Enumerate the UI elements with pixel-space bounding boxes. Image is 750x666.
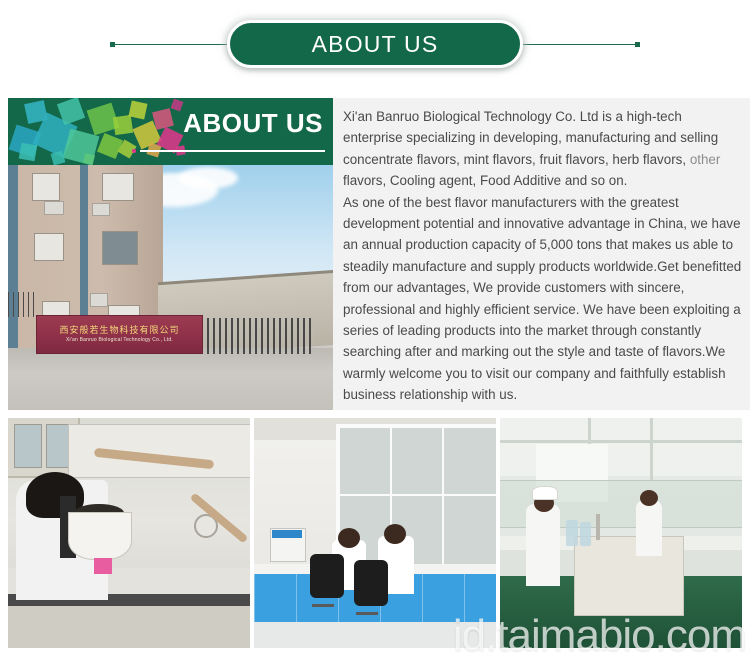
gallery-photo-3 xyxy=(500,418,742,648)
hair-cap xyxy=(532,486,558,500)
gallery-photo-1 xyxy=(8,418,250,648)
sink-island xyxy=(574,536,684,616)
cabinet-glass xyxy=(14,424,42,468)
ceiling-beam xyxy=(650,418,653,480)
about-text-panel: Xi'an Banruo Biological Technology Co. L… xyxy=(333,98,750,410)
header-rule-dot-right xyxy=(635,42,640,47)
worker-head xyxy=(640,490,658,506)
sign-chinese-text: 西安般若生物科技有限公司 xyxy=(59,326,179,336)
technician-head xyxy=(338,528,360,548)
floor xyxy=(254,622,496,648)
factory-gate xyxy=(201,318,313,354)
rotary-evaporator-bath xyxy=(68,512,132,560)
page-title: ABOUT US xyxy=(312,31,439,58)
about-text-part-1: Xi'an Banruo Biological Technology Co. L… xyxy=(343,109,718,167)
cloud xyxy=(178,167,238,189)
about-us-pill-wrapper: ABOUT US xyxy=(227,20,523,68)
banner-underline xyxy=(140,150,325,152)
factory-photo: 西安般若生物科技有限公司 Xi'an Banruo Biological Tec… xyxy=(8,165,333,410)
bottle xyxy=(566,520,578,546)
window xyxy=(102,173,134,201)
oven-display xyxy=(272,530,302,538)
building-pillar xyxy=(8,165,18,350)
header-rule-dot-left xyxy=(110,42,115,47)
worker-coat xyxy=(526,504,560,586)
company-signboard: 西安般若生物科技有限公司 Xi'an Banruo Biological Tec… xyxy=(36,315,203,354)
about-text-other: other xyxy=(690,152,721,167)
under-bench-cabinet xyxy=(8,606,250,648)
window xyxy=(102,231,138,265)
about-left-column: ABOUT US 西安般若生物科技有限公司 xyxy=(8,98,333,410)
photo-gallery xyxy=(8,418,742,648)
about-us-banner: ABOUT US xyxy=(8,98,333,165)
ground xyxy=(8,348,333,410)
gallery-photo-2 xyxy=(254,418,496,648)
banner-title: ABOUT US xyxy=(183,108,323,139)
window xyxy=(34,233,64,261)
office-chair xyxy=(310,554,344,598)
air-conditioner xyxy=(90,293,108,307)
fence xyxy=(8,292,38,317)
about-us-pill[interactable]: ABOUT US xyxy=(227,20,523,68)
chair-wheels xyxy=(356,612,378,615)
bottle xyxy=(580,522,591,546)
pink-label xyxy=(94,558,112,574)
about-text-part-3: As one of the best flavor manufacturers … xyxy=(343,195,741,403)
office-chair xyxy=(354,560,388,606)
window xyxy=(32,173,60,201)
sign-english-text: Xi'an Banruo Biological Technology Co., … xyxy=(66,337,173,343)
ceiling-beam xyxy=(500,440,742,443)
faucet xyxy=(596,514,600,540)
about-section: ABOUT US 西安般若生物科技有限公司 xyxy=(0,98,750,410)
page-header: ABOUT US xyxy=(0,0,750,88)
mosaic-decoration xyxy=(8,98,188,165)
about-paragraph: Xi'an Banruo Biological Technology Co. L… xyxy=(343,106,742,406)
technician-head xyxy=(384,524,406,544)
chair-wheels xyxy=(312,604,334,607)
worker-coat xyxy=(636,500,662,556)
air-conditioner xyxy=(92,203,110,216)
air-conditioner xyxy=(44,201,64,215)
about-text-part-2: flavors, Cooling agent, Food Additive an… xyxy=(343,173,627,188)
